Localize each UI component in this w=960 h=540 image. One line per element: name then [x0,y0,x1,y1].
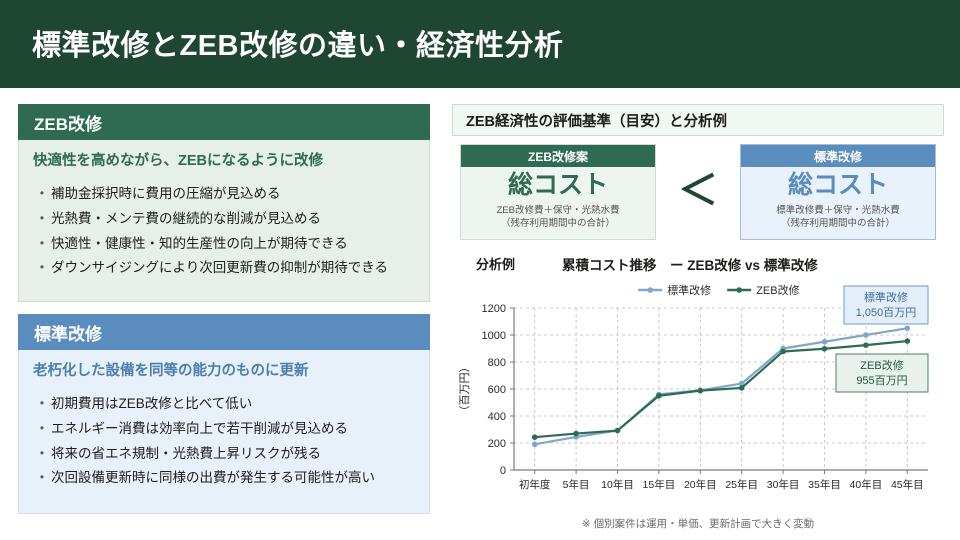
x-axis-tick-label: 45年目 [891,478,924,491]
x-axis-tick-label: 30年目 [767,478,800,491]
y-axis-tick-label: 1000 [482,330,506,342]
y-axis-tick-label: 800 [488,357,506,369]
y-axis-label: （百万円） [458,362,471,417]
chart-data-point [780,349,786,355]
chart-data-point [698,388,704,394]
chart-title-row: 分析例 累積コスト推移 ー ZEB改修 vs 標準改修 [452,254,944,276]
list-item: • 補助金採択時に費用の圧縮が見込める [33,184,415,204]
chart-data-point [822,339,828,345]
bullet-dot-icon: • [33,234,51,253]
cumulative-cost-chart: 020040060080010001200初年度5年目10年目15年目20年目2… [452,280,944,512]
cost-box-zeb-detail-line1: ZEB改修費＋保守・光熱水費 [461,204,655,218]
cost-box-standard-total: 総コスト [741,172,935,200]
bullet-dot-icon: • [33,209,51,228]
list-item: • 光熱費・メンテ費の継続的な削減が見込める [33,209,415,229]
chart-data-point [863,332,869,338]
slide-title-bar: 標準改修とZEB改修の違い・経済性分析 [0,0,960,88]
bullet-text: 光熱費・メンテ費の継続的な削減が見込める [51,209,415,229]
list-item: • 初期費用はZEB改修と比べて低い [33,394,415,414]
bullet-text: 次回設備更新時に同様の出費が発生する可能性が高い [51,468,415,488]
bullet-text: ダウンサイジングにより次回更新費の抑制が期待できる [51,258,415,278]
card-standard-bullet-list: • 初期費用はZEB改修と比べて低い • エネルギー消費は効率向上で若干削減が見… [33,394,415,487]
cost-box-standard-detail: 標準改修費＋保守・光熱水費 （残存利用期間中の合計） [741,204,935,232]
cost-box-zeb: ZEB改修案 総コスト ZEB改修費＋保守・光熱水費 （残存利用期間中の合計） [460,144,656,240]
card-zeb-header-label: ZEB改修 [34,110,102,135]
cost-box-zeb-detail-line2: （残存利用期間中の合計） [461,217,655,231]
chart-data-point [905,338,911,344]
card-standard-header: 標準改修 [18,314,430,350]
card-zeb-renovation: ZEB改修 快適性を高めながら、ZEBになるように改修 • 補助金採択時に費用の… [18,104,430,302]
page-title: 標準改修とZEB改修の違い・経済性分析 [32,22,564,64]
bullet-dot-icon: • [33,258,51,277]
callout-line-1: 標準改修 [864,290,908,304]
cost-box-standard-detail-line1: 標準改修費＋保守・光熱水費 [741,204,935,218]
chart-data-point [863,342,869,348]
callout-line-2: 955百万円 [856,375,907,387]
list-item: • エネルギー消費は効率向上で若干削減が見込める [33,419,415,439]
cost-comparison-row: ZEB改修案 総コスト ZEB改修費＋保守・光熱水費 （残存利用期間中の合計） … [452,144,944,240]
card-standard-header-label: 標準改修 [34,320,102,345]
card-standard-lead: 老朽化した設備を同等の能力のものに更新 [33,363,415,380]
x-axis-tick-label: 40年目 [850,478,883,491]
list-item: • 快適性・健康性・知的生産性の向上が期待できる [33,234,415,254]
less-than-icon: ＜ [668,166,728,216]
cost-box-standard-detail-line2: （残存利用期間中の合計） [741,217,935,231]
list-item: • 将来の省エネ規制・光熱費上昇リスクが残る [33,444,415,464]
bullet-text: 将来の省エネ規制・光熱費上昇リスクが残る [51,444,415,464]
chart-data-point [573,431,579,437]
list-item: • ダウンサイジングにより次回更新費の抑制が期待できる [33,258,415,278]
bullet-text: 初期費用はZEB改修と比べて低い [51,394,415,414]
standard-total-callout: 標準改修1,050百万円 [844,286,928,324]
cost-box-standard: 標準改修 総コスト 標準改修費＋保守・光熱水費 （残存利用期間中の合計） [740,144,936,240]
y-axis-tick-label: 400 [488,411,506,423]
chart-data-point [532,442,538,448]
card-zeb-lead: 快適性を高めながら、ZEBになるように改修 [33,153,415,170]
card-standard-renovation: 標準改修 老朽化した設備を同等の能力のものに更新 • 初期費用はZEB改修と比べ… [18,314,430,514]
card-zeb-header: ZEB改修 [18,104,430,140]
chart-data-point [656,393,662,399]
x-axis-tick-label: 35年目 [808,478,841,491]
x-axis-tick-label: 初年度 [519,478,551,491]
y-axis-tick-label: 600 [488,384,506,396]
chart-legend-label: 標準改修 [667,283,711,297]
chart-data-point [822,346,828,352]
list-item: • 次回設備更新時に同様の出費が発生する可能性が高い [33,468,415,488]
chart-data-point [739,385,745,391]
right-panel: ZEB経済性の評価基準（目安）と分析例 ZEB改修案 総コスト ZEB改修費＋保… [452,104,944,524]
bullet-dot-icon: • [33,394,51,413]
card-zeb-bullet-list: • 補助金採択時に費用の圧縮が見込める • 光熱費・メンテ費の継続的な削減が見込… [33,184,415,277]
bullet-dot-icon: • [33,468,51,487]
y-axis-tick-label: 0 [500,465,506,477]
zeb-total-callout: ZEB改修955百万円 [836,354,928,392]
y-axis-tick-label: 1200 [482,303,506,315]
chart-data-point [615,428,621,434]
card-zeb-body: 快適性を高めながら、ZEBになるように改修 • 補助金採択時に費用の圧縮が見込め… [18,140,430,302]
bullet-text: エネルギー消費は効率向上で若干削減が見込める [51,419,415,439]
bullet-dot-icon: • [33,419,51,438]
right-panel-header: ZEB経済性の評価基準（目安）と分析例 [452,104,944,136]
x-axis-tick-label: 15年目 [643,478,676,491]
cost-box-zeb-total: 総コスト [461,172,655,200]
x-axis-tick-label: 10年目 [601,478,634,491]
right-panel-header-label: ZEB経済性の評価基準（目安）と分析例 [466,110,727,131]
cost-box-zeb-header: ZEB改修案 [461,145,655,167]
chart-title: 累積コスト推移 ー ZEB改修 vs 標準改修 [562,254,818,274]
x-axis-tick-label: 5年目 [563,478,590,491]
callout-line-2: 1,050百万円 [856,307,917,319]
bullet-dot-icon: • [33,184,51,203]
bullet-text: 快適性・健康性・知的生産性の向上が期待できる [51,234,415,254]
cost-box-standard-header: 標準改修 [741,145,935,167]
chart-data-point [905,325,911,331]
chart-legend-label: ZEB改修 [756,283,799,297]
callout-line-1: ZEB改修 [860,358,903,372]
chart-data-point [532,434,538,440]
bullet-text: 補助金採択時に費用の圧縮が見込める [51,184,415,204]
x-axis-tick-label: 25年目 [725,478,758,491]
bullet-dot-icon: • [33,444,51,463]
cost-box-zeb-detail: ZEB改修費＋保守・光熱水費 （残存利用期間中の合計） [461,204,655,232]
x-axis-tick-label: 20年目 [684,478,717,491]
y-axis-tick-label: 200 [488,438,506,450]
analysis-example-label: 分析例 [476,254,515,273]
card-standard-body: 老朽化した設備を同等の能力のものに更新 • 初期費用はZEB改修と比べて低い •… [18,350,430,514]
chart-svg: 020040060080010001200初年度5年目10年目15年目20年目2… [452,280,944,512]
chart-footnote: ※ 個別案件は運用・単価、更新計画で大きく変動 [452,516,944,531]
